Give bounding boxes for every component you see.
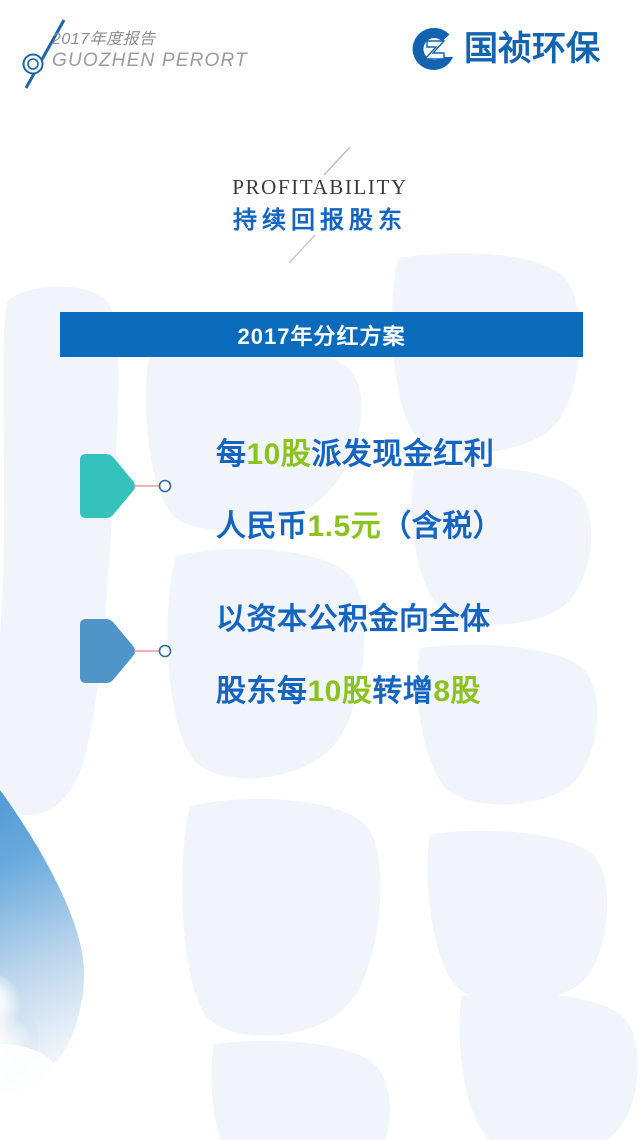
item-text-block: 以资本公积金向全体 股东每10股转增8股 — [216, 605, 616, 707]
brand-name: 国祯环保 — [464, 32, 600, 66]
guozhen-g-logo-icon — [411, 26, 457, 72]
water-droplet-photo — [0, 790, 120, 1095]
header-title-cn: 2017年度报告 — [52, 31, 248, 50]
brand-logo: 国祯环保 — [411, 26, 600, 72]
item-line-1: 每10股派发现金红利 — [216, 440, 616, 470]
item-seg: 以资本公积金向全体 — [216, 603, 491, 636]
report-page: 2017年度报告 GUOZHEN PERORT 国祯环保 PROFITABILI… — [0, 0, 640, 1140]
item-seg-highlight: 8股 — [433, 675, 481, 708]
dividend-items-list: 每10股派发现金红利 人民币1.5元（含税） 以资本公积金向全体 股东每10股转… — [0, 440, 640, 770]
diagonal-slash-icon — [322, 145, 352, 177]
header-title-block: 2017年度报告 GUOZHEN PERORT — [52, 31, 248, 72]
pentagon-marker-icon — [76, 452, 176, 520]
item-seg: 股东每 — [216, 675, 308, 708]
item-seg: 转增 — [372, 675, 433, 708]
item-line-2: 人民币1.5元（含税） — [216, 512, 616, 542]
dividend-plan-banner: 2017年分红方案 — [60, 312, 583, 357]
item-seg-highlight: 10股 — [308, 675, 373, 708]
item-text-block: 每10股派发现金红利 人民币1.5元（含税） — [216, 440, 616, 542]
banner-title: 2017年分红方案 — [238, 319, 406, 351]
list-item: 每10股派发现金红利 人民币1.5元（含税） — [0, 440, 640, 605]
diagonal-slash-icon — [287, 233, 317, 265]
item-seg-highlight: 1.5元 — [308, 510, 382, 543]
list-item: 以资本公积金向全体 股东每10股转增8股 — [0, 605, 640, 770]
page-header: 2017年度报告 GUOZHEN PERORT 国祯环保 — [0, 0, 640, 104]
pentagon-marker-icon — [76, 617, 176, 685]
item-seg: 人民币 — [216, 510, 308, 543]
item-seg: （含税） — [381, 510, 503, 543]
item-seg: 每 — [216, 438, 247, 471]
section-title-en: PROFITABILITY — [0, 175, 640, 200]
item-line-2: 股东每10股转增8股 — [216, 677, 616, 707]
section-title-cn: 持续回报股东 — [0, 206, 640, 236]
item-seg: 派发现金红利 — [311, 438, 494, 471]
item-seg-highlight: 10股 — [247, 438, 312, 471]
section-heading: PROFITABILITY 持续回报股东 — [0, 145, 640, 236]
header-title-en: GUOZHEN PERORT — [52, 50, 248, 72]
item-line-1: 以资本公积金向全体 — [216, 605, 616, 635]
